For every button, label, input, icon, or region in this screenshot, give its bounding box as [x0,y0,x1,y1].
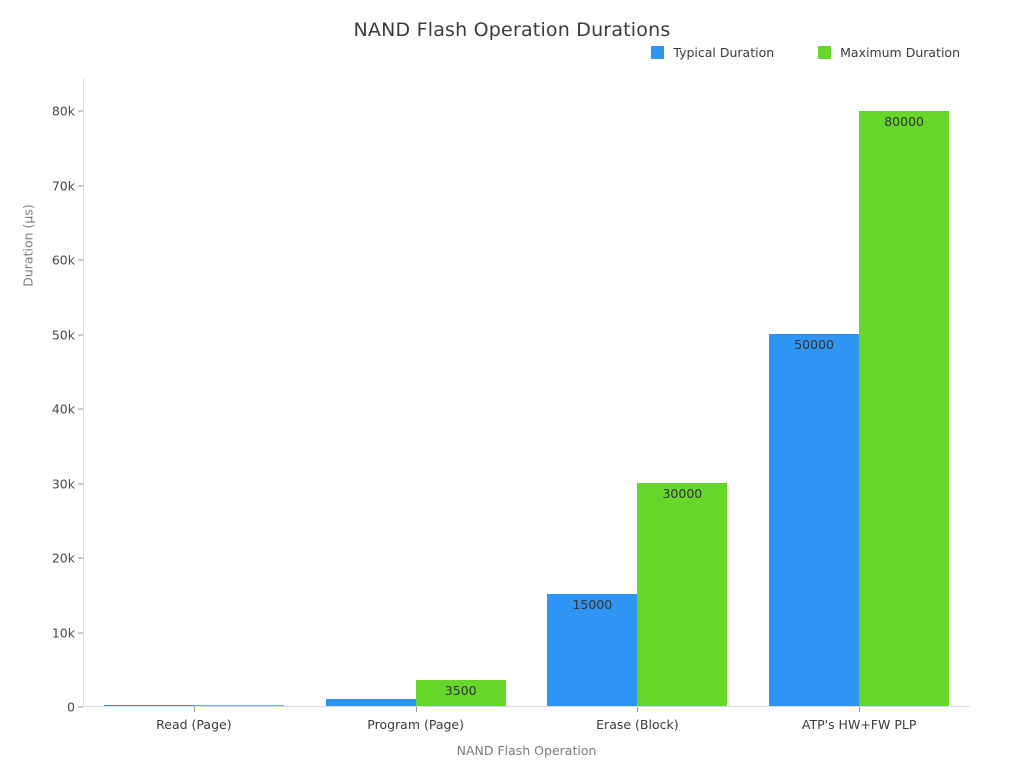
legend-item-maximum-duration[interactable]: Maximum Duration [818,45,960,60]
x-axis-tick-label: Read (Page) [156,717,231,732]
chart-legend: Typical Duration Maximum Duration [651,45,960,60]
bar[interactable]: 3500 [416,680,506,706]
y-axis-tick-mark [78,632,83,633]
y-axis-tick-label: 60k [25,253,75,268]
legend-item-typical-duration[interactable]: Typical Duration [651,45,774,60]
y-axis-tick-mark [78,558,83,559]
y-axis-tick-mark [78,334,83,335]
bar-value-label: 3500 [416,683,506,698]
bar[interactable] [104,705,194,706]
y-axis-tick-label: 70k [25,178,75,193]
bar[interactable]: 80000 [859,111,949,707]
x-axis-title: NAND Flash Operation [83,743,970,758]
bar-value-label: 80000 [859,114,949,129]
x-axis-tick-label: Program (Page) [367,717,464,732]
y-axis-tick-mark [78,185,83,186]
bar-value-label: 30000 [637,486,727,501]
legend-label: Maximum Duration [840,45,960,60]
x-axis-tick-label: Erase (Block) [596,717,678,732]
legend-swatch-icon [818,46,831,59]
bar-chart-figure: NAND Flash Operation Durations Typical D… [0,0,1024,768]
y-axis-tick-label: 20k [25,551,75,566]
bar[interactable] [194,705,284,706]
bar[interactable]: 15000 [547,594,637,706]
x-axis-spine [83,706,970,707]
bar[interactable]: 50000 [769,334,859,706]
x-axis-tick-mark [637,707,638,712]
y-axis-tick-mark [78,483,83,484]
y-axis-title: Duration (µs) [21,146,36,346]
y-axis-tick-label: 80k [25,104,75,119]
y-axis-tick-label: 50k [25,327,75,342]
y-axis-tick-mark [78,260,83,261]
y-axis-tick-label: 40k [25,402,75,417]
legend-swatch-icon [651,46,664,59]
y-axis-tick-mark [78,707,83,708]
bar-value-label: 15000 [547,597,637,612]
x-axis-tick-mark [416,707,417,712]
bar[interactable]: 30000 [637,483,727,706]
bar[interactable] [326,699,416,706]
plot-area: 010k20k30k40k50k60k70k80k350015000300005… [83,78,970,707]
y-axis-tick-mark [78,111,83,112]
y-axis-tick-mark [78,409,83,410]
legend-label: Typical Duration [673,45,774,60]
bar-value-label: 50000 [769,337,859,352]
y-axis-tick-label: 10k [25,625,75,640]
x-axis-tick-mark [194,707,195,712]
y-axis-tick-label: 0 [25,700,75,715]
x-axis-tick-mark [859,707,860,712]
y-axis-spine [83,78,84,707]
page-title: NAND Flash Operation Durations [0,19,1024,41]
y-axis-tick-label: 30k [25,476,75,491]
x-axis-tick-label: ATP's HW+FW PLP [802,717,916,732]
